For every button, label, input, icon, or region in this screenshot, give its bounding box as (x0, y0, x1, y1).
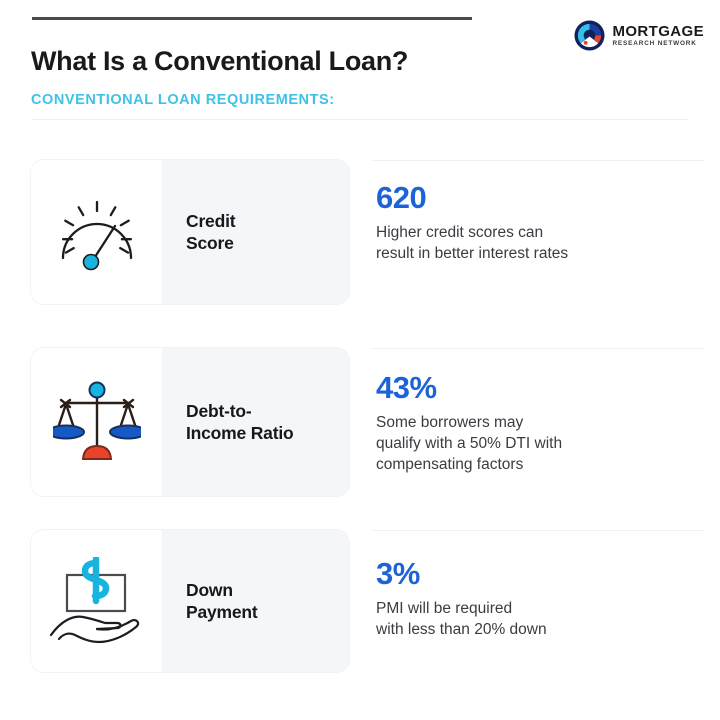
requirement-row: Credit Score 620 Higher credit scores ca… (0, 160, 720, 348)
mortgage-research-network-logo-icon (574, 20, 605, 51)
card-icon-panel (31, 530, 162, 672)
card-label-panel: Down Payment (162, 530, 349, 672)
stat-description: PMI will be required with less than 20% … (376, 598, 720, 640)
requirement-label: Credit Score (186, 210, 235, 255)
card-icon-panel (31, 348, 162, 496)
requirement-stat: 3% PMI will be required with less than 2… (376, 530, 720, 640)
requirement-card: Debt-to- Income Ratio (31, 348, 349, 496)
balance-scale-icon (53, 376, 141, 468)
stat-description: Some borrowers may qualify with a 50% DT… (376, 412, 720, 475)
stat-description: Higher credit scores can result in bette… (376, 222, 720, 264)
row-divider (372, 160, 704, 161)
requirements-list: Credit Score 620 Higher credit scores ca… (0, 160, 720, 690)
requirement-card: Credit Score (31, 160, 349, 304)
subtitle-divider (31, 119, 689, 120)
logo-sub-text: RESEARCH NETWORK (612, 41, 704, 47)
row-divider (372, 530, 704, 531)
row-divider (372, 348, 704, 349)
requirement-label: Down Payment (186, 579, 258, 624)
speedometer-gauge-icon (51, 190, 143, 274)
requirement-stat: 43% Some borrowers may qualify with a 50… (376, 348, 720, 475)
stat-value: 43% (376, 372, 720, 403)
requirement-label: Debt-to- Income Ratio (186, 400, 293, 445)
stat-value: 3% (376, 558, 720, 589)
stat-value: 620 (376, 182, 720, 213)
title-top-rule (32, 17, 472, 20)
card-label-panel: Credit Score (162, 160, 349, 304)
card-label-panel: Debt-to- Income Ratio (162, 348, 349, 496)
logo-main-text: MORTGAGE (612, 24, 704, 39)
requirement-row: Debt-to- Income Ratio 43% Some borrowers… (0, 348, 720, 530)
section-subtitle: CONVENTIONAL LOAN REQUIREMENTS: (31, 92, 335, 108)
card-icon-panel (31, 160, 162, 304)
hand-holding-money-icon (47, 557, 147, 645)
requirement-stat: 620 Higher credit scores can result in b… (376, 160, 720, 264)
requirement-row: Down Payment 3% PMI will be required wit… (0, 530, 720, 690)
page-title: What Is a Conventional Loan? (31, 46, 408, 77)
brand-logo: MORTGAGE RESEARCH NETWORK (574, 20, 704, 51)
requirement-card: Down Payment (31, 530, 349, 672)
logo-wordmark: MORTGAGE RESEARCH NETWORK (612, 24, 704, 47)
